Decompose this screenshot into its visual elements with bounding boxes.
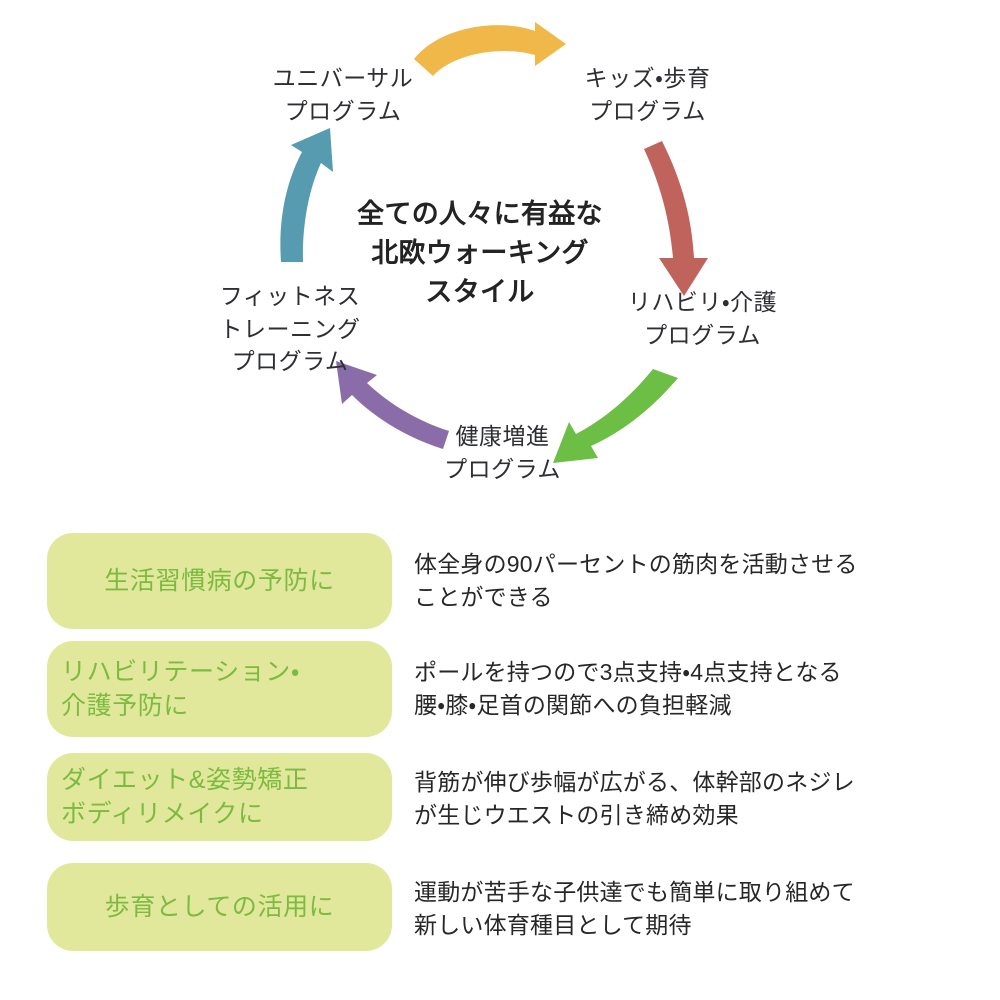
benefit-pill-diet-posture[interactable]: ダイエット&姿勢矯正 ボディリメイクに bbox=[47, 753, 392, 841]
benefit-pill-label: ダイエット&姿勢矯正 ボディリメイクに bbox=[61, 763, 378, 831]
benefit-pill-label: 歩育としての活用に bbox=[105, 890, 335, 924]
benefit-pill-label: リハビリテーション・ 介護予防に bbox=[61, 655, 378, 723]
benefit-description: 背筋が伸び歩幅が広がる、体幹部のネジレ が生じウエストの引き締め効果 bbox=[414, 766, 974, 832]
benefit-pill-walking-education[interactable]: 歩育としての活用に bbox=[47, 863, 392, 951]
cycle-node-universal-program[interactable]: ユニバーサル プログラム bbox=[228, 62, 458, 127]
cycle-diagram: ユニバーサル プログラム キッズ・歩育 プログラム リハビリ・介護 プログラム … bbox=[0, 0, 1000, 520]
benefit-description: 運動が苦手な子供達でも簡単に取り組めて 新しい体育種目として期待 bbox=[414, 876, 974, 942]
cycle-node-kids-program[interactable]: キッズ・歩育 プログラム bbox=[540, 62, 755, 127]
benefit-row: 歩育としての活用に 運動が苦手な子供達でも簡単に取り組めて 新しい体育種目として… bbox=[0, 858, 1000, 950]
benefit-pill-label: 生活習慣病の予防に bbox=[104, 564, 334, 598]
benefits-table: 生活習慣病の予防に 体全身の90パーセントの筋肉を活動させる ことができる リハ… bbox=[0, 520, 1000, 1000]
cycle-node-health-program[interactable]: 健康増進 プログラム bbox=[410, 420, 595, 485]
benefit-description: ポールを持つので3点支持・4点支持となる 腰・膝・足首の関節への負担軽減 bbox=[414, 656, 974, 722]
benefit-row: リハビリテーション・ 介護予防に ポールを持つので3点支持・4点支持となる 腰・… bbox=[0, 636, 1000, 736]
benefit-description: 体全身の90パーセントの筋肉を活動させる ことができる bbox=[414, 548, 974, 614]
benefit-row: 生活習慣病の予防に 体全身の90パーセントの筋肉を活動させる ことができる bbox=[0, 528, 1000, 628]
benefit-pill-rehabilitation[interactable]: リハビリテーション・ 介護予防に bbox=[47, 641, 392, 737]
benefit-row: ダイエット&姿勢矯正 ボディリメイクに 背筋が伸び歩幅が広がる、体幹部のネジレ … bbox=[0, 748, 1000, 840]
red-arrow-icon bbox=[644, 141, 708, 296]
cycle-center-title: 全ての人々に有益な 北欧ウォーキング スタイル bbox=[320, 195, 640, 312]
benefit-pill-lifestyle-disease[interactable]: 生活習慣病の予防に bbox=[47, 533, 392, 629]
